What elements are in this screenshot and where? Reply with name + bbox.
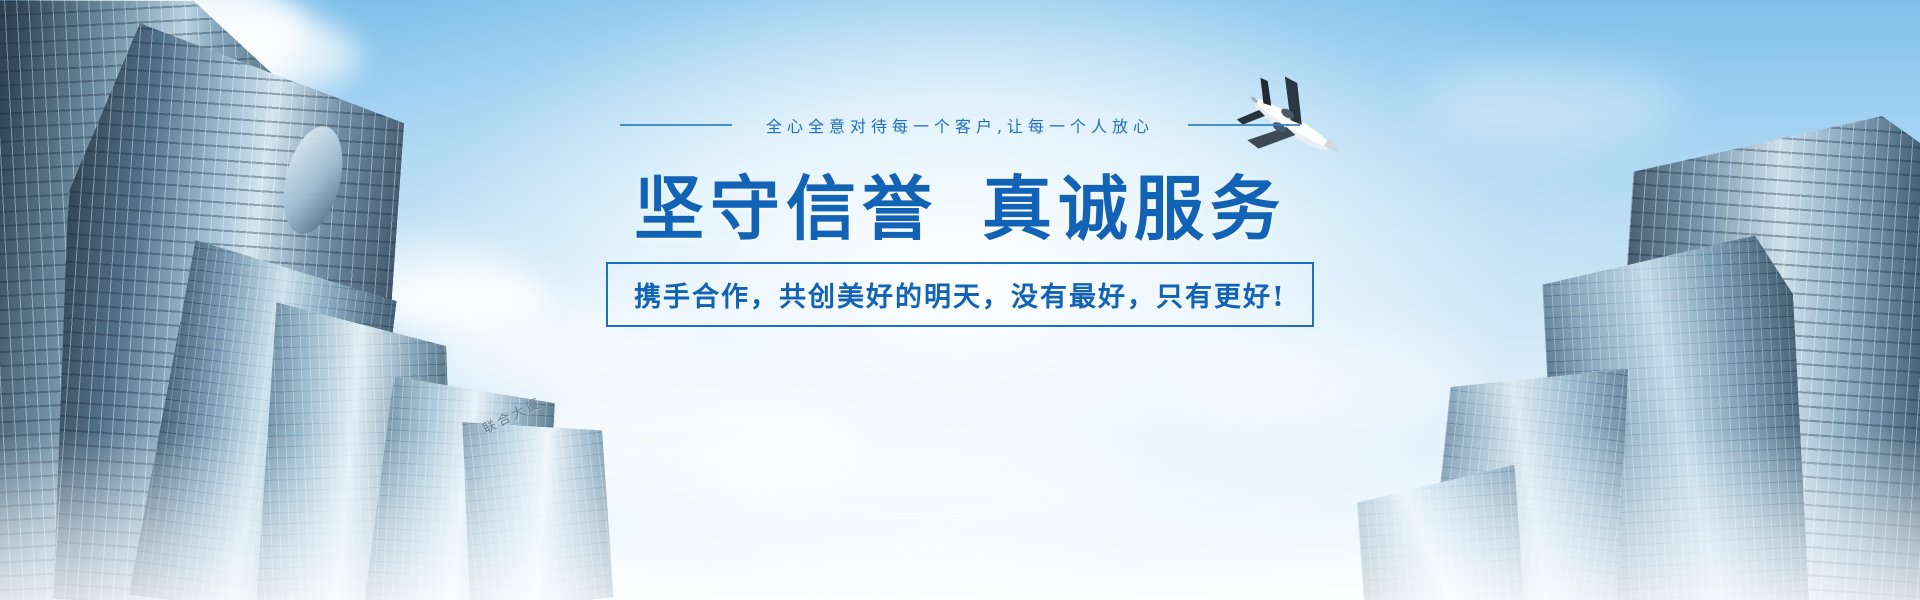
headline-part-right: 真诚服务 (982, 167, 1286, 250)
divider-rule-right (1188, 124, 1300, 126)
tagline-row: 全心全意对待每一个客户,让每一个人放心 (0, 113, 1920, 137)
hero-banner: 联合大厦 全心全意对待每一个客户,让每一个人放心 坚守信誉真诚服务 (0, 0, 1920, 600)
headline-part-left: 坚守信誉 (634, 167, 938, 250)
subtitle-row: 携手合作，共创美好的明天，没有最好，只有更好! (0, 262, 1920, 327)
banner-headline: 坚守信誉真诚服务 (0, 168, 1920, 251)
divider-rule-left (620, 124, 732, 126)
banner-subtitle: 携手合作，共创美好的明天，没有最好，只有更好! (606, 262, 1314, 327)
banner-content: 全心全意对待每一个客户,让每一个人放心 坚守信誉真诚服务 携手合作，共创美好的明… (0, 0, 1920, 600)
banner-tagline: 全心全意对待每一个客户,让每一个人放心 (766, 113, 1154, 137)
